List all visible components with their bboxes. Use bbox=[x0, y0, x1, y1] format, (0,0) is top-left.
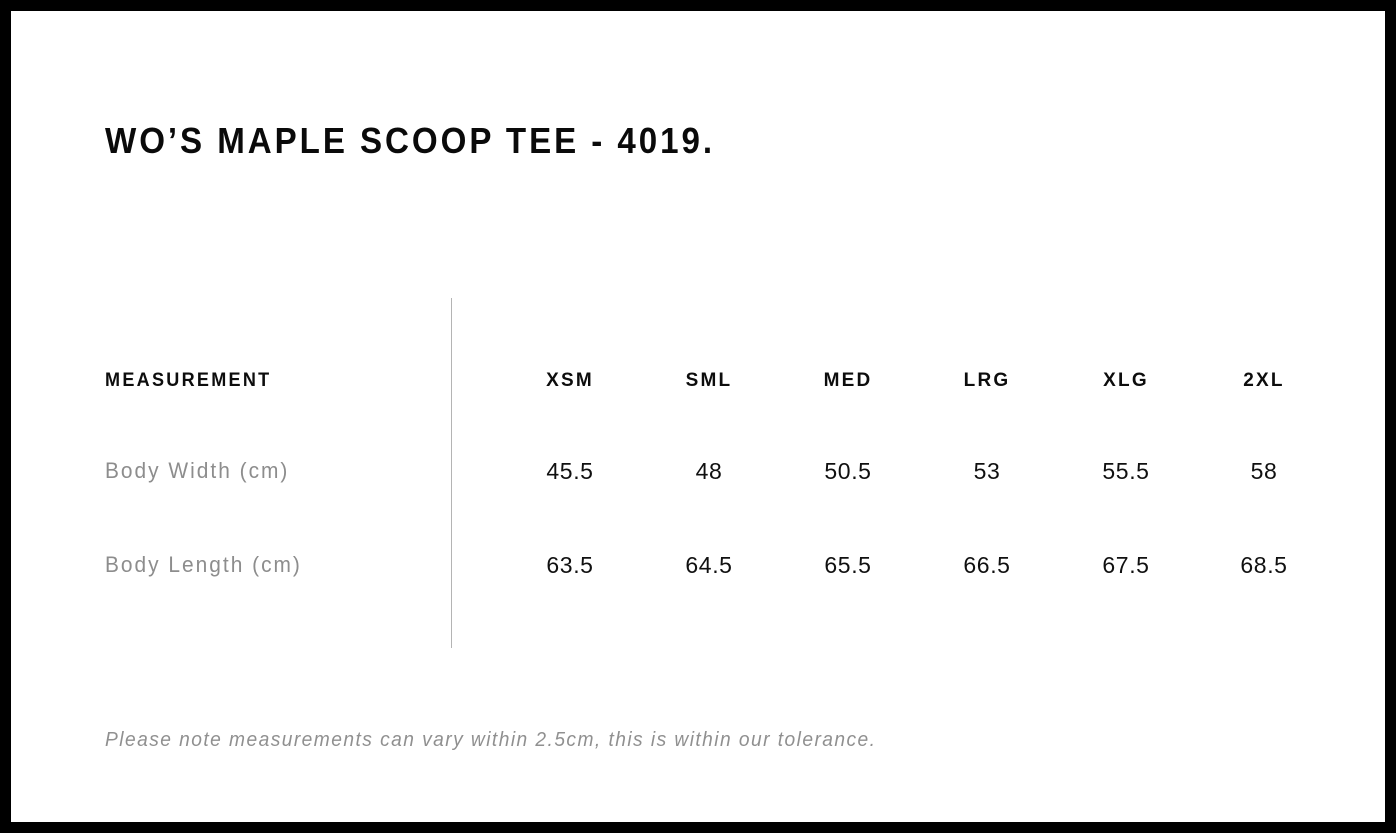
column-header-sml: SML bbox=[649, 361, 769, 401]
cell-body-length-xlg: 67.5 bbox=[1066, 545, 1186, 585]
page-border: WO’S MAPLE SCOOP TEE - 4019. MEASUREMENT… bbox=[0, 0, 1396, 833]
cell-body-width-2xl: 58 bbox=[1204, 451, 1324, 491]
row-label-body-width: Body Width (cm) bbox=[105, 451, 289, 491]
cell-body-length-lrg: 66.5 bbox=[927, 545, 1047, 585]
cell-body-length-sml: 64.5 bbox=[649, 545, 769, 585]
column-header-xsm: XSM bbox=[510, 361, 630, 401]
column-header-xlg: XLG bbox=[1066, 361, 1186, 401]
table-header-row: MEASUREMENT XSM SML MED LRG XLG 2XL bbox=[11, 361, 1385, 401]
cell-body-length-med: 65.5 bbox=[788, 545, 908, 585]
cell-body-width-lrg: 53 bbox=[927, 451, 1047, 491]
cell-body-width-med: 50.5 bbox=[788, 451, 908, 491]
row-label-body-length: Body Length (cm) bbox=[105, 545, 302, 585]
cell-body-length-2xl: 68.5 bbox=[1204, 545, 1324, 585]
cell-body-width-sml: 48 bbox=[649, 451, 769, 491]
column-header-measurement: MEASUREMENT bbox=[105, 361, 271, 401]
column-header-2xl: 2XL bbox=[1204, 361, 1324, 401]
table-row: Body Length (cm) 63.5 64.5 65.5 66.5 67.… bbox=[11, 545, 1385, 585]
page-title: WO’S MAPLE SCOOP TEE - 4019. bbox=[105, 119, 715, 163]
cell-body-length-xsm: 63.5 bbox=[510, 545, 630, 585]
tolerance-note: Please note measurements can vary within… bbox=[105, 724, 876, 756]
table-row: Body Width (cm) 45.5 48 50.5 53 55.5 58 bbox=[11, 451, 1385, 491]
size-chart-sheet: WO’S MAPLE SCOOP TEE - 4019. MEASUREMENT… bbox=[11, 11, 1385, 822]
cell-body-width-xlg: 55.5 bbox=[1066, 451, 1186, 491]
column-header-med: MED bbox=[788, 361, 908, 401]
cell-body-width-xsm: 45.5 bbox=[510, 451, 630, 491]
column-header-lrg: LRG bbox=[927, 361, 1047, 401]
